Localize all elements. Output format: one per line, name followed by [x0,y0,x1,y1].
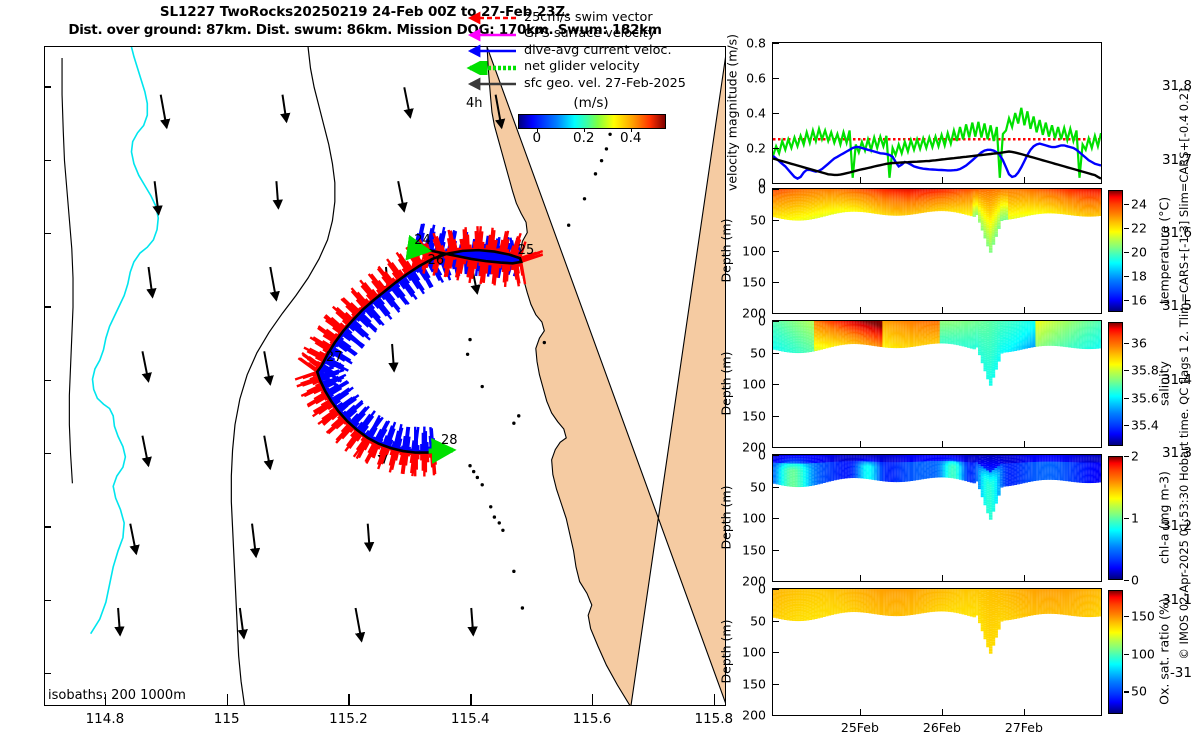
salinity-section-ytick-label: 150 [728,408,766,423]
legend-arrow-icon [466,61,518,75]
track-day-label: 26 [428,253,445,268]
oxygen-section-colorbar-tick-label: 50 [1131,684,1147,699]
legend-item: net glider velocity [466,60,686,77]
map-ytick-mark [44,526,51,527]
time-tick-mark [860,709,861,715]
temperature-section-colorbar-tick-label: 20 [1131,245,1147,260]
oxygen-section-panel[interactable] [772,588,1102,716]
legend-item-label: 25cm/s swim vector [524,12,653,25]
ytick-mark [773,78,779,79]
map-ytick-mark [44,453,51,454]
legend-item-label: sfc geo. vel. 27-Feb-2025 [524,78,686,91]
salinity-section-colorbar [1108,322,1123,446]
temperature-section-colorbar-tick-label: 24 [1131,197,1147,212]
time-tick-label: 25Feb [841,720,879,735]
salinity-section-ytick-label: 50 [728,345,766,360]
ytick-mark [773,581,779,582]
map-xtick-label: 115.6 [573,711,612,727]
colorbar-tick-mark [1124,456,1129,457]
salinity-section-colorbar-tick-label: 36 [1131,335,1147,350]
ytick-mark [773,183,779,184]
map-xtick-label: 115.4 [451,711,490,727]
time-tick-mark [942,177,943,183]
map-ytick-mark [44,86,51,87]
figure-root: SL1227 TwoRocks20250219 24-Feb 00Z to 27… [0,0,1200,750]
temperature-section-ytick-label: 150 [728,275,766,290]
salinity-section-colorbar-tick-label: 35.8 [1131,363,1159,378]
ytick-mark [773,589,779,590]
colorbar-tick-mark [1124,654,1129,655]
ytick-mark [773,220,779,221]
map-ytick-mark [44,306,51,307]
chla-section-panel[interactable] [772,454,1102,582]
time-tick-mark [942,307,943,313]
map-xtick-mark [348,694,349,705]
velocity-colorbar [518,114,666,129]
map-xtick-mark [714,694,715,705]
ytick-mark [773,282,779,283]
oxygen-section-plot [773,589,1101,715]
legend-item-label: dive-avg current veloc. [524,45,672,58]
oxygen-section-ytick-label: 0 [728,582,766,597]
chla-section-ytick-label: 0 [728,448,766,463]
track-day-label: 27 [326,350,343,365]
isobath-note: isobaths: 200 1000m [48,688,186,703]
legend-arrow-icon [466,11,518,25]
colorbar-tick-mark [1124,300,1129,301]
oxygen-section-colorbar [1108,590,1123,714]
ytick-mark [773,518,779,519]
ytick-mark [773,684,779,685]
oxygen-section-colorbar-tick-label: 100 [1131,646,1155,661]
colorbar-tick-mark [1124,276,1129,277]
map-xtick-label: 114.8 [86,711,125,727]
salinity-section-colorbar-tick-label: 35.6 [1131,390,1159,405]
temperature-section-colorbar-tick-label: 22 [1131,221,1147,236]
colorbar-tick-mark [1124,616,1129,617]
ytick-mark [773,113,779,114]
time-tick-mark [860,575,861,581]
ytick-mark [773,43,779,44]
track-day-label: 28 [441,433,458,448]
colorbar-tick-mark [1124,580,1129,581]
colorbar-tick-mark [1124,370,1129,371]
salinity-section-plot [773,321,1101,447]
legend-item-label: GPS surface velocity [524,28,655,41]
time-tick-mark [1024,441,1025,447]
map-xtick-label: 115.2 [329,711,368,727]
oxygen-section-ytick-label: 100 [728,645,766,660]
colorbar-tick-label: 0 [532,130,541,146]
salinity-section-colorbar-tick-label: 35.4 [1131,418,1159,433]
colorbar-tick-mark [1124,398,1129,399]
chla-section-colorbar-tick-label: 2 [1131,449,1139,464]
ytick-mark [773,652,779,653]
chla-section-ytick-label: 150 [728,542,766,557]
time-tick-mark [1024,575,1025,581]
colorbar-tick-mark [537,128,538,132]
ytick-mark [773,384,779,385]
ytick-mark [773,353,779,354]
colorbar-tick-label: 0.4 [620,130,641,146]
oxygen-section-ytick-label: 50 [728,613,766,628]
oxygen-section-ytick-label: 200 [728,708,766,723]
colorbar-tick-mark [1124,252,1129,253]
ytick-mark [773,550,779,551]
legend-arrow-icon [466,28,518,42]
legend-item: sfc geo. vel. 27-Feb-2025 [466,76,686,93]
legend-item: GPS surface velocity [466,27,686,44]
colorbar-tick-mark [584,128,585,132]
map-xtick-mark [227,694,228,705]
temperature-section-ytick-label: 100 [728,244,766,259]
time-tick-label: 26Feb [923,720,961,735]
time-tick-mark [1024,307,1025,313]
chla-section-ytick-label: 100 [728,511,766,526]
oxygen-section-ytick-label: 150 [728,676,766,691]
temperature-section-colorbar-tick-label: 18 [1131,269,1147,284]
time-tick-label: 27Feb [1005,720,1043,735]
oxygen-section-colorbar-title: Ox. sat. ratio (%) [1157,573,1172,731]
time-tick-mark [860,441,861,447]
map-xtick-mark [470,694,471,705]
legend-arrow-icon [466,77,518,91]
track-day-label: 25 [518,243,535,258]
credit-text: © IMOS 02-Apr-2025 01:53:30 Hobart time.… [1177,14,1191,734]
ytick-mark [773,313,779,314]
ytick-mark [773,321,779,322]
temperature-section-colorbar-tick-label: 16 [1131,293,1147,308]
map-xtick-mark [592,694,593,705]
colorbar-tick-label: 0.2 [573,130,594,146]
map-legend: 25cm/s swim vectorGPS surface velocitydi… [466,10,686,147]
colorbar-unit: (m/s) [502,95,680,111]
temperature-section-panel[interactable] [772,188,1102,314]
chla-section-ytick-label: 50 [728,479,766,494]
temperature-section-ytick-label: 0 [728,182,766,197]
ytick-mark [773,189,779,190]
salinity-section-panel[interactable] [772,320,1102,448]
time-tick-mark [942,575,943,581]
chla-section-colorbar [1108,456,1123,580]
ytick-mark [773,251,779,252]
time-tick-mark [1024,709,1025,715]
temperature-section-colorbar [1108,190,1123,312]
velocity-colorbar-ticks: 00.20.4 [518,129,666,147]
colorbar-tick-mark [1124,343,1129,344]
colorbar-tick-mark [1124,425,1129,426]
map-colorbar-block: 4h (m/s) 00.20.4 [466,95,686,147]
salinity-section-ytick-label: 0 [728,314,766,329]
map-xtick-label: 115 [214,711,240,727]
velocity-magnitude-ytick-label: 0.2 [728,141,766,156]
colorbar-tick-mark [631,128,632,132]
chla-section-plot [773,455,1101,581]
oxygen-section-colorbar-tick-label: 150 [1131,609,1155,624]
time-tick-mark [942,441,943,447]
ytick-mark [773,487,779,488]
ytick-mark [773,455,779,456]
ytick-mark [773,416,779,417]
map-ytick-mark [44,380,51,381]
legend-item-label: net glider velocity [524,61,640,74]
colorbar-tick-mark [1124,691,1129,692]
map-ytick-mark [44,673,51,674]
ytick-mark [773,447,779,448]
map-ytick-mark [44,600,51,601]
chla-section-colorbar-tick-label: 1 [1131,511,1139,526]
colorbar-tick-mark [1124,204,1129,205]
chla-section-colorbar-tick-label: 0 [1131,573,1139,588]
velocity-magnitude-ytick-label: 0.4 [728,106,766,121]
track-day-label: 24 [414,233,431,248]
velocity-magnitude-ytick-label: 0.8 [728,36,766,51]
colorbar-tick-mark [1124,518,1129,519]
time-tick-mark [942,709,943,715]
legend-item: dive-avg current veloc. [466,43,686,60]
legend-arrow-icon [466,44,518,58]
map-ytick-mark [44,233,51,234]
time-tick-mark [860,307,861,313]
legend-rows: 25cm/s swim vectorGPS surface velocitydi… [466,10,686,93]
ytick-mark [773,621,779,622]
ytick-mark [773,148,779,149]
temperature-section-plot [773,189,1101,313]
legend-item: 25cm/s swim vector [466,10,686,27]
velocity-magnitude-plot [773,43,1101,183]
velocity-magnitude-panel[interactable] [772,42,1102,184]
scale-note: 4h [466,96,483,111]
temperature-section-ytick-label: 50 [728,213,766,228]
map-ytick-mark [44,160,51,161]
colorbar-tick-mark [1124,228,1129,229]
time-tick-mark [860,177,861,183]
salinity-section-ytick-label: 100 [728,377,766,392]
ytick-mark [773,715,779,716]
velocity-magnitude-ytick-label: 0.6 [728,71,766,86]
time-tick-mark [1024,177,1025,183]
